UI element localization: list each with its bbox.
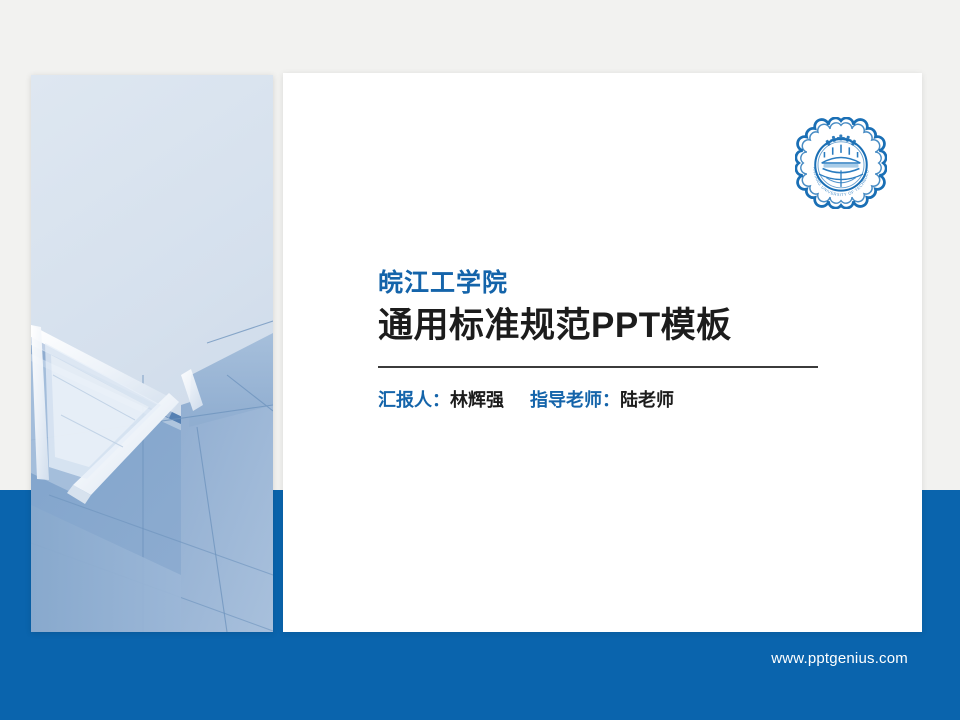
footer-url: www.pptgenius.com bbox=[0, 650, 908, 667]
title-block: 皖江工学院 通用标准规范PPT模板 汇报人：林辉强指导老师：陆老师 bbox=[378, 268, 838, 413]
cover-photo-graphic bbox=[31, 75, 273, 632]
school-name: 皖江工学院 bbox=[378, 268, 838, 299]
advisor-label: 指导老师： bbox=[530, 390, 620, 410]
advisor-name: 陆老师 bbox=[620, 390, 674, 410]
presentation-slide: WANJIANG UNIVERSITY OF TECHNOLOGY 皖江工学院 … bbox=[0, 0, 960, 720]
university-emblem-icon: WANJIANG UNIVERSITY OF TECHNOLOGY bbox=[795, 117, 887, 209]
university-logo: WANJIANG UNIVERSITY OF TECHNOLOGY bbox=[795, 117, 887, 209]
presenter-label: 汇报人： bbox=[378, 390, 450, 410]
cover-photo bbox=[31, 75, 273, 632]
page-title: 通用标准规范PPT模板 bbox=[378, 305, 838, 347]
presenter-name: 林辉强 bbox=[450, 390, 504, 410]
title-divider bbox=[378, 366, 818, 368]
presenter-row: 汇报人：林辉强指导老师：陆老师 bbox=[378, 389, 838, 412]
